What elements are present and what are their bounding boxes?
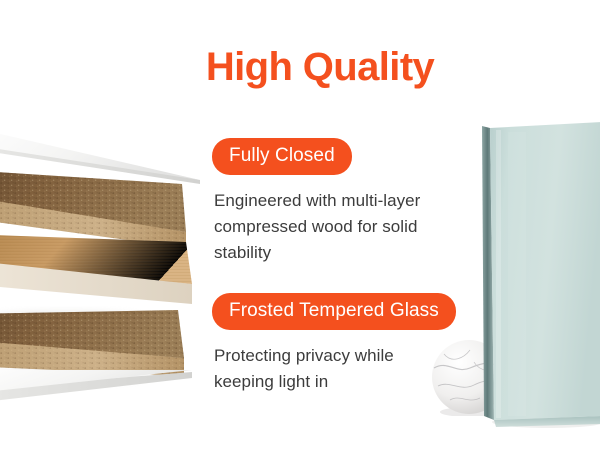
board-layer-white-bottom <box>0 370 192 402</box>
feature-body-fully-closed: Engineered with multi-layer compressed w… <box>214 188 436 265</box>
board-stack-illustration <box>0 122 216 402</box>
feature-list: Fully Closed Engineered with multi-layer… <box>212 138 542 395</box>
feature-item-fully-closed: Fully Closed Engineered with multi-layer… <box>212 138 542 265</box>
feature-body-frosted-glass: Protecting privacy while keeping light i… <box>214 343 450 395</box>
feature-badge-frosted-glass: Frosted Tempered Glass <box>212 293 456 330</box>
board-layer-wood-core <box>0 234 192 304</box>
product-feature-banner: High Quality Fully Closed Engineered wit… <box>0 0 600 450</box>
feature-badge-fully-closed: Fully Closed <box>212 138 352 175</box>
feature-item-frosted-glass: Frosted Tempered Glass Protecting privac… <box>212 293 542 395</box>
board-layer-particleboard-lower <box>0 310 184 376</box>
page-title: High Quality <box>0 46 600 88</box>
